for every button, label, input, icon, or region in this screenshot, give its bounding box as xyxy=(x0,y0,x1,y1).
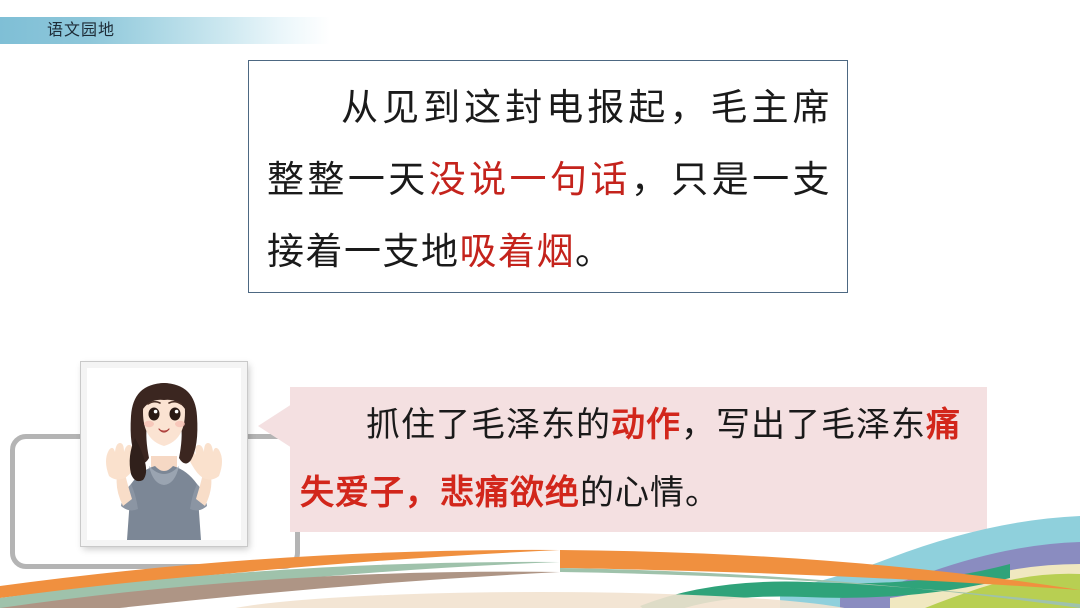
highlighted-run: 吸着烟 xyxy=(460,232,576,273)
highlighted-run: 动作 xyxy=(611,407,681,444)
avatar xyxy=(81,362,247,546)
plain-run: 抓住了毛泽东的 xyxy=(366,407,611,444)
page-title: 语文园地 xyxy=(47,18,115,44)
plain-run: 的心情。 xyxy=(580,475,720,512)
cartoon-girl-icon xyxy=(87,368,241,540)
plain-run: ，写出了毛泽东 xyxy=(681,407,926,444)
quote-box: 从见到这封电报起，毛主席整整一天没说一句话，只是一支接着一支地吸着烟。 xyxy=(248,60,848,293)
book-band-tan xyxy=(0,572,560,608)
ribbon-purple xyxy=(840,542,1080,608)
slide-canvas: 语文园地 从见到这封电报起，毛主席整整一天没说一句话，只是一支接着一支地吸着烟。 xyxy=(0,0,1080,608)
plain-run: 。 xyxy=(575,232,614,273)
speech-bubble-tail xyxy=(258,404,292,448)
book-band-orange-right xyxy=(560,550,1080,590)
ribbon-green xyxy=(640,564,1010,608)
highlighted-run: 没说一句话 xyxy=(429,160,631,201)
speech-bubble-text: 抓住了毛泽东的动作，写出了毛泽东痛失爱子，悲痛欲绝的心情。 xyxy=(300,392,980,528)
ribbon-olive xyxy=(925,574,1080,608)
book-page-glow xyxy=(210,592,870,608)
ribbon-cream xyxy=(890,564,1080,608)
book-band-sage-right xyxy=(560,568,1080,608)
quote-text: 从见到这封电报起，毛主席整整一天没说一句话，只是一支接着一支地吸着烟。 xyxy=(267,73,831,289)
